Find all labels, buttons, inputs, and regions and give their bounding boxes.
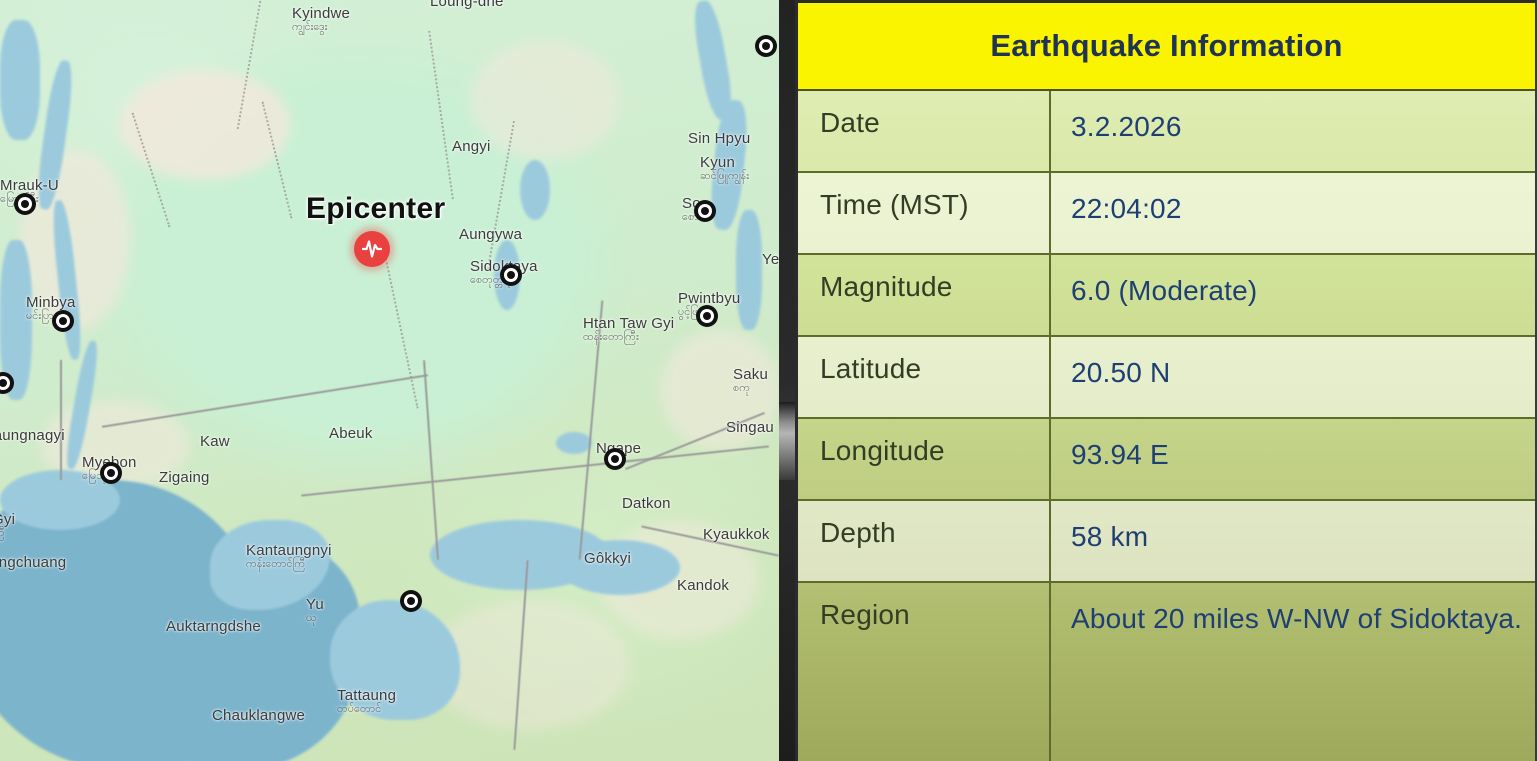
map-place-label: Ye bbox=[762, 252, 779, 268]
row-label: Region bbox=[798, 583, 1051, 761]
table-row: Latitude20.50 N bbox=[798, 337, 1535, 419]
city-marker-icon[interactable] bbox=[52, 310, 74, 332]
water-river bbox=[520, 160, 550, 220]
earthquake-info-panel: Earthquake Information Date3.2.2026Time … bbox=[795, 0, 1537, 761]
row-value: 6.0 (Moderate) bbox=[1051, 255, 1535, 335]
place-name-burmese: စကု bbox=[733, 383, 768, 395]
water-river bbox=[0, 20, 40, 140]
row-value: About 20 miles W-NW of Sidoktaya. bbox=[1051, 583, 1535, 761]
place-name: Datkon bbox=[622, 495, 671, 512]
map-place-label: Gyiကြီ bbox=[0, 512, 15, 539]
map-place-label: Tattaungတပ်တောင် bbox=[337, 688, 396, 715]
water-inlet bbox=[560, 540, 680, 595]
epicenter-marker[interactable] bbox=[354, 231, 390, 267]
map-place-label: Kyaukkok bbox=[703, 527, 770, 543]
place-name: Tattaung bbox=[337, 687, 396, 704]
place-name-burmese: တပ်တောင် bbox=[337, 704, 396, 716]
map-place-label: Kaw bbox=[200, 434, 230, 450]
city-marker-icon[interactable] bbox=[696, 305, 718, 327]
place-name-burmese: ထန်းတောကြီး bbox=[583, 332, 674, 344]
map-pane[interactable]: Kyindweကျွင်းဒွေးLoung-dheAngyiSin HpyuK… bbox=[0, 0, 779, 761]
earthquake-info-table: Date3.2.2026Time (MST)22:04:02Magnitude6… bbox=[798, 91, 1535, 761]
page-title: Earthquake Information bbox=[990, 28, 1342, 64]
place-name: Auktarngdshe bbox=[166, 618, 261, 635]
place-name: Taungchuang bbox=[0, 554, 66, 571]
map-place-label: Taungchuang bbox=[0, 555, 66, 571]
relief-patch bbox=[470, 40, 620, 160]
place-name: Ye bbox=[762, 251, 779, 268]
epicenter-label: Epicenter bbox=[306, 192, 445, 226]
map-place-label: Sakuစကု bbox=[733, 367, 768, 394]
seismograph-icon bbox=[360, 237, 384, 261]
map-place-label: Sin Hpyu bbox=[688, 131, 750, 147]
road-line bbox=[60, 360, 62, 480]
place-name: Kyindwe bbox=[292, 5, 350, 22]
screenshot-root: Kyindweကျွင်းဒွေးLoung-dheAngyiSin HpyuK… bbox=[0, 0, 1537, 761]
row-value: 20.50 N bbox=[1051, 337, 1535, 417]
map-place-label: Auktarngdshe bbox=[166, 619, 261, 635]
city-marker-icon[interactable] bbox=[755, 35, 777, 57]
map-place-label: Kyindweကျွင်းဒွေး bbox=[292, 6, 350, 33]
place-name: Abeuk bbox=[329, 425, 373, 442]
place-name: Saku bbox=[733, 366, 768, 383]
row-label: Date bbox=[798, 91, 1051, 171]
water-river bbox=[556, 432, 592, 454]
row-value: 58 km bbox=[1051, 501, 1535, 581]
map-place-label: Taungnagyi bbox=[0, 428, 65, 444]
row-value: 93.94 E bbox=[1051, 419, 1535, 499]
row-label: Longitude bbox=[798, 419, 1051, 499]
map-place-label: Kyunဆင်ဖြူကျွန်း bbox=[700, 155, 749, 182]
place-name: Zigaing bbox=[159, 469, 210, 486]
row-label: Time (MST) bbox=[798, 173, 1051, 253]
panel-title-bar: Earthquake Information bbox=[798, 3, 1535, 91]
place-name: Loung-dhe bbox=[430, 0, 504, 10]
place-name: Kandok bbox=[677, 577, 729, 594]
city-marker-icon[interactable] bbox=[400, 590, 422, 612]
place-name-burmese: ကြီ bbox=[0, 528, 15, 540]
map-place-label: Abeuk bbox=[329, 426, 373, 442]
map-place-label: Gôkkyi bbox=[584, 551, 631, 567]
row-value: 22:04:02 bbox=[1051, 173, 1535, 253]
relief-patch bbox=[430, 600, 630, 730]
city-marker-icon[interactable] bbox=[100, 462, 122, 484]
place-name: Minbya bbox=[26, 294, 76, 311]
map-place-label: Chauklangwe bbox=[212, 708, 305, 724]
place-name: Kyun bbox=[700, 154, 735, 171]
table-row: Date3.2.2026 bbox=[798, 91, 1535, 173]
city-marker-icon[interactable] bbox=[694, 200, 716, 222]
place-name-burmese: ယု bbox=[306, 613, 324, 625]
place-name: Mrauk-U bbox=[0, 177, 59, 194]
place-name: Taungnagyi bbox=[0, 427, 65, 444]
map-place-label: Yuယု bbox=[306, 597, 324, 624]
place-name: Yu bbox=[306, 596, 324, 613]
city-marker-icon[interactable] bbox=[604, 448, 626, 470]
map-place-label: Loung-dhe bbox=[430, 0, 504, 10]
place-name: Gyi bbox=[0, 511, 15, 528]
city-marker-icon[interactable] bbox=[500, 264, 522, 286]
place-name: Chauklangwe bbox=[212, 707, 305, 724]
map-place-label: Datkon bbox=[622, 496, 671, 512]
place-name: Sin Hpyu bbox=[688, 130, 750, 147]
row-value: 3.2.2026 bbox=[1051, 91, 1535, 171]
table-row: Depth 58 km bbox=[798, 501, 1535, 583]
map-place-label: Zigaing bbox=[159, 470, 210, 486]
map-place-label: Kandok bbox=[677, 578, 729, 594]
city-marker-icon[interactable] bbox=[14, 193, 36, 215]
map-place-label: Angyi bbox=[452, 139, 491, 155]
place-name: Kantaungnyi bbox=[246, 542, 332, 559]
table-row: RegionAbout 20 miles W-NW of Sidoktaya. bbox=[798, 583, 1535, 761]
table-row: Longitude93.94 E bbox=[798, 419, 1535, 501]
place-name-burmese: ဆင်ဖြူကျွန်း bbox=[700, 171, 749, 183]
pane-divider-highlight bbox=[779, 402, 795, 480]
map-place-label: Singau bbox=[726, 420, 774, 436]
place-name: Kyaukkok bbox=[703, 526, 770, 543]
row-label: Magnitude bbox=[798, 255, 1051, 335]
row-label: Depth bbox=[798, 501, 1051, 581]
map-place-label: Aungywa bbox=[459, 227, 522, 243]
place-name: Gôkkyi bbox=[584, 550, 631, 567]
place-name: Singau bbox=[726, 419, 774, 436]
row-label: Latitude bbox=[798, 337, 1051, 417]
place-name-burmese: ကန်းတောင်ကြီ bbox=[246, 559, 332, 571]
pane-divider bbox=[779, 0, 795, 761]
table-row: Time (MST)22:04:02 bbox=[798, 173, 1535, 255]
relief-patch bbox=[120, 70, 290, 180]
map-place-label: Kantaungnyiကန်းတောင်ကြီ bbox=[246, 543, 332, 570]
place-name: Htan Taw Gyi bbox=[583, 315, 674, 332]
place-name: Angyi bbox=[452, 138, 491, 155]
place-name-burmese: ကျွင်းဒွေး bbox=[292, 22, 350, 34]
map-place-label: Htan Taw Gyiထန်းတောကြီး bbox=[583, 316, 674, 343]
table-row: Magnitude6.0 (Moderate) bbox=[798, 255, 1535, 337]
place-name: Aungywa bbox=[459, 226, 522, 243]
place-name: Kaw bbox=[200, 433, 230, 450]
